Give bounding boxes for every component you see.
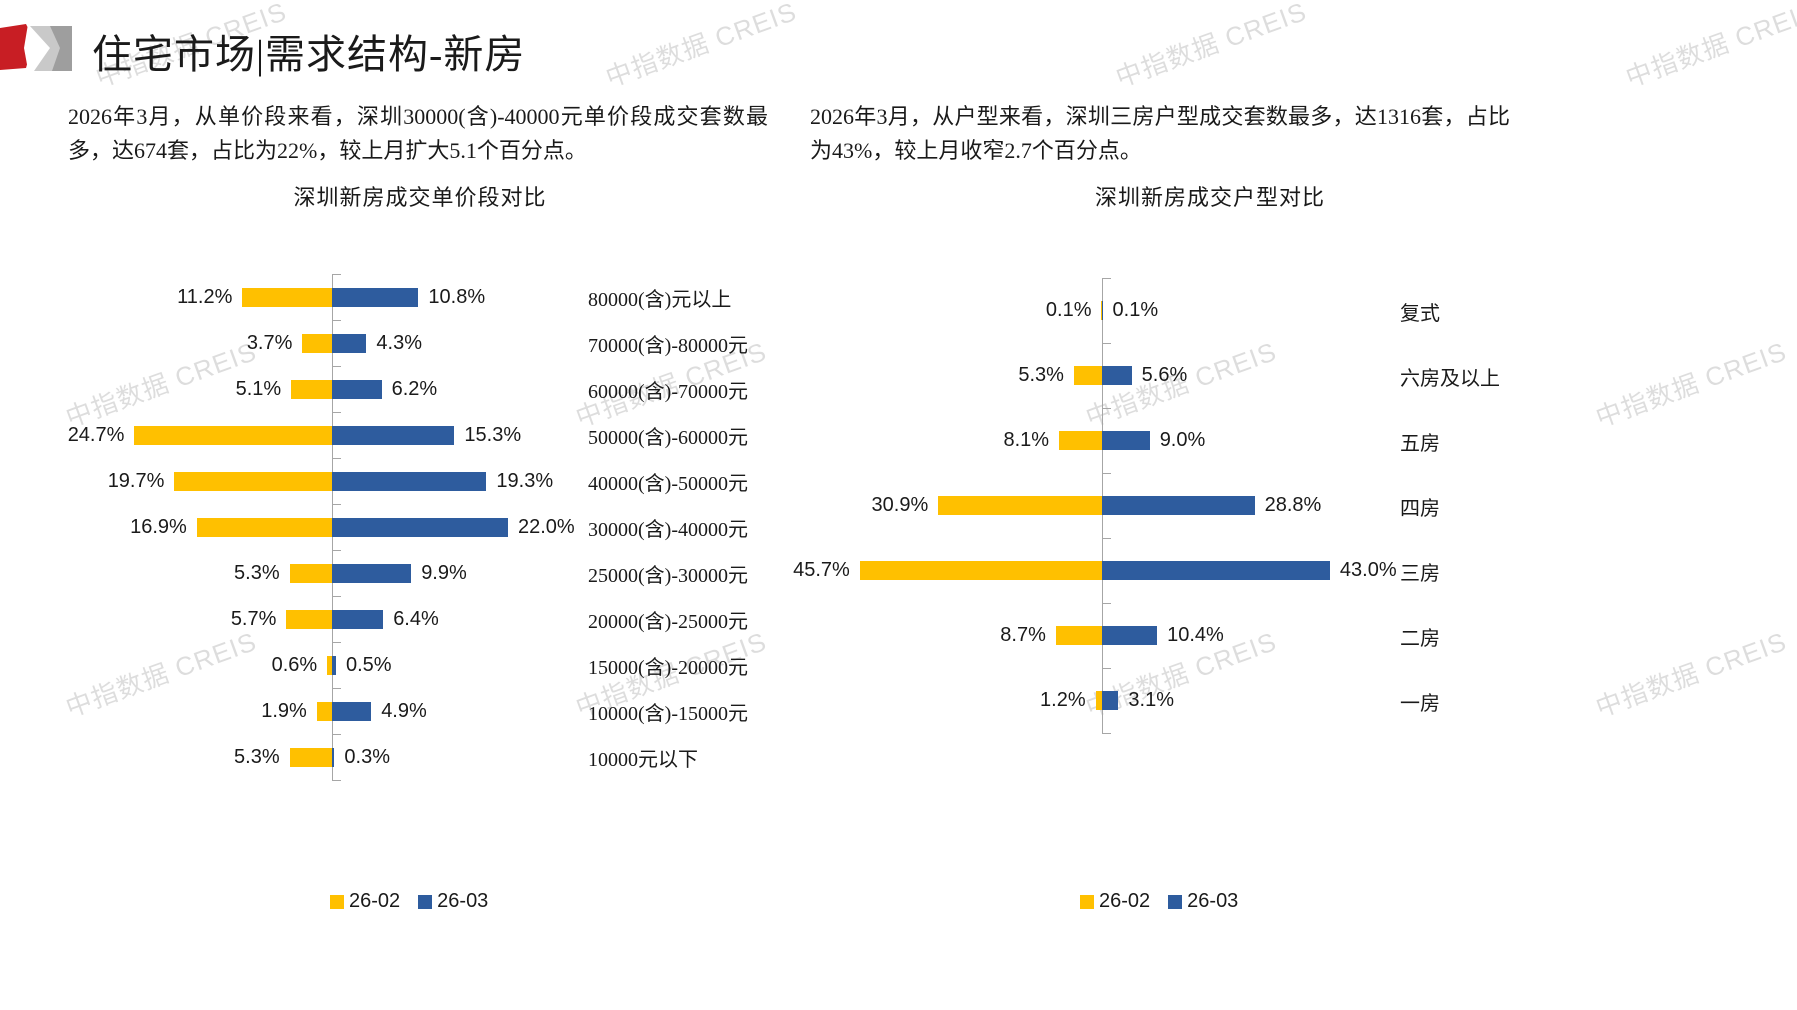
bar-value-label-prev: 8.7%: [1000, 624, 1046, 647]
bar-value-label-curr: 22.0%: [518, 516, 575, 539]
bar-prev[interactable]: [286, 610, 332, 629]
bar-curr[interactable]: [332, 472, 486, 491]
legend-label-prev: 26-02: [1099, 890, 1150, 913]
bar-value-label-prev: 45.7%: [793, 559, 850, 582]
category-label: 四房: [1400, 492, 1440, 521]
bar-value-label-prev: 0.1%: [1046, 299, 1092, 322]
chart-row: 1.2%3.1%: [830, 668, 1590, 733]
bar-group-curr: 10.4%: [1102, 603, 1224, 668]
category-label: 六房及以上: [1400, 362, 1500, 391]
category-label: 60000(含)-70000元: [588, 375, 748, 404]
category-label: 50000(含)-60000元: [588, 421, 748, 450]
bar-curr[interactable]: [332, 610, 383, 629]
legend-label-prev: 26-02: [349, 890, 400, 913]
bar-curr[interactable]: [332, 518, 508, 537]
bar-value-label-prev: 5.3%: [234, 562, 280, 585]
bar-group-prev: 11.2%: [177, 274, 332, 320]
bar-value-label-curr: 0.1%: [1113, 299, 1159, 322]
bar-curr[interactable]: [1102, 431, 1150, 450]
bar-group-curr: 28.8%: [1102, 473, 1321, 538]
bar-prev[interactable]: [1056, 626, 1102, 645]
bar-group-prev: 19.7%: [108, 458, 332, 504]
chart-row: 8.1%9.0%: [830, 408, 1590, 473]
bar-curr[interactable]: [332, 656, 336, 675]
bar-value-label-prev: 11.2%: [177, 286, 232, 309]
bar-value-label-prev: 1.9%: [261, 700, 307, 723]
axis-tick: [1102, 733, 1111, 734]
bar-value-label-curr: 0.5%: [346, 654, 392, 677]
bar-curr[interactable]: [1102, 691, 1118, 710]
bar-value-label-curr: 10.4%: [1167, 624, 1224, 647]
bar-value-label-prev: 5.3%: [234, 746, 280, 769]
legend-swatch-curr: [418, 895, 432, 909]
watermark-text: 中指数据 CREIS: [1590, 621, 1791, 724]
bar-value-label-curr: 3.1%: [1128, 689, 1174, 712]
category-label: 五房: [1400, 427, 1440, 456]
bar-prev[interactable]: [1059, 431, 1102, 450]
bar-prev[interactable]: [302, 334, 332, 353]
bar-curr[interactable]: [1102, 496, 1255, 515]
plot-area-unit-type: 0.1%0.1%复式5.3%5.6%六房及以上8.1%9.0%五房30.9%28…: [830, 278, 1590, 733]
plot-area-price-band: 11.2%10.8%80000(含)元以上3.7%4.3%70000(含)-80…: [40, 274, 800, 780]
bar-curr[interactable]: [332, 334, 366, 353]
bar-group-curr: 4.9%: [332, 688, 427, 734]
bar-value-label-curr: 4.3%: [376, 332, 422, 355]
bar-value-label-prev: 0.6%: [272, 654, 318, 677]
bar-curr[interactable]: [332, 288, 418, 307]
bar-curr[interactable]: [332, 564, 411, 583]
page-title: 住宅市场|需求结构-新房: [92, 22, 525, 80]
legend-swatch-prev: [330, 895, 344, 909]
bar-group-prev: 24.7%: [68, 412, 332, 458]
bar-value-label-curr: 10.8%: [428, 286, 485, 309]
chart-row: 30.9%28.8%: [830, 473, 1590, 538]
bar-curr[interactable]: [1102, 301, 1103, 320]
category-label: 70000(含)-80000元: [588, 329, 748, 358]
bar-group-prev: 5.1%: [236, 366, 332, 412]
bar-value-label-curr: 43.0%: [1340, 559, 1397, 582]
axis-tick: [332, 780, 341, 781]
chart-unit-type: 深圳新房成交户型对比 0.1%0.1%复式5.3%5.6%六房及以上8.1%9.…: [830, 180, 1590, 970]
category-label: 复式: [1400, 297, 1440, 326]
bar-group-curr: 19.3%: [332, 458, 553, 504]
bar-group-prev: 8.1%: [1003, 408, 1102, 473]
bar-prev[interactable]: [860, 561, 1102, 580]
chart-row: 45.7%43.0%: [830, 538, 1590, 603]
category-label: 20000(含)-25000元: [588, 605, 748, 634]
bar-group-curr: 6.4%: [332, 596, 439, 642]
bar-value-label-prev: 30.9%: [872, 494, 929, 517]
bar-group-curr: 15.3%: [332, 412, 521, 458]
legend-item-prev: 26-02: [1080, 890, 1150, 913]
bar-group-prev: 3.7%: [247, 320, 332, 366]
legend-item-curr: 26-03: [1168, 890, 1238, 913]
bar-group-curr: 10.8%: [332, 274, 485, 320]
bar-group-prev: 5.3%: [234, 550, 332, 596]
category-label: 25000(含)-30000元: [588, 559, 748, 588]
bar-group-curr: 6.2%: [332, 366, 437, 412]
category-label: 二房: [1400, 622, 1440, 651]
bar-group-prev: 0.6%: [272, 642, 332, 688]
bar-value-label-curr: 0.3%: [344, 746, 390, 769]
bar-value-label-prev: 16.9%: [130, 516, 187, 539]
bar-group-curr: 9.0%: [1102, 408, 1205, 473]
legend-label-curr: 26-03: [1187, 890, 1238, 913]
bar-value-label-curr: 6.4%: [393, 608, 439, 631]
brand-logo-icon: [0, 24, 72, 74]
bar-group-curr: 22.0%: [332, 504, 575, 550]
bar-prev[interactable]: [317, 702, 332, 721]
bar-curr[interactable]: [332, 380, 382, 399]
legend-unit-type: 26-02 26-03: [1080, 890, 1238, 913]
bar-value-label-curr: 9.0%: [1160, 429, 1206, 452]
bar-value-label-prev: 19.7%: [108, 470, 165, 493]
bar-group-prev: 0.1%: [1046, 278, 1102, 343]
chart-price-band: 深圳新房成交单价段对比 11.2%10.8%80000(含)元以上3.7%4.3…: [40, 180, 800, 970]
bar-curr[interactable]: [1102, 561, 1330, 580]
legend-swatch-prev: [1080, 895, 1094, 909]
category-label: 40000(含)-50000元: [588, 467, 748, 496]
category-label: 30000(含)-40000元: [588, 513, 748, 542]
bar-prev[interactable]: [290, 564, 332, 583]
summary-text-unit-type: 2026年3月，从户型来看，深圳三房户型成交套数最多，达1316套，占比为43%…: [810, 100, 1510, 168]
bar-prev[interactable]: [134, 426, 332, 445]
bar-group-prev: 1.2%: [1040, 668, 1102, 733]
bar-prev[interactable]: [197, 518, 332, 537]
watermark-text: 中指数据 CREIS: [1590, 331, 1791, 434]
bar-value-label-curr: 19.3%: [496, 470, 553, 493]
bar-group-prev: 8.7%: [1000, 603, 1102, 668]
bar-value-label-prev: 5.7%: [231, 608, 277, 631]
bar-value-label-prev: 3.7%: [247, 332, 293, 355]
bar-group-curr: 4.3%: [332, 320, 422, 366]
bar-value-label-curr: 5.6%: [1142, 364, 1188, 387]
category-label: 一房: [1400, 687, 1440, 716]
bar-value-label-curr: 4.9%: [381, 700, 427, 723]
bar-value-label-prev: 5.1%: [236, 378, 282, 401]
chart-title-price-band: 深圳新房成交单价段对比: [40, 180, 800, 212]
chart-row: 8.7%10.4%: [830, 603, 1590, 668]
bar-value-label-curr: 28.8%: [1265, 494, 1322, 517]
bar-prev[interactable]: [242, 288, 332, 307]
bar-group-curr: 0.3%: [332, 734, 390, 780]
bar-value-label-curr: 15.3%: [464, 424, 521, 447]
bar-group-curr: 43.0%: [1102, 538, 1397, 603]
bar-group-prev: 45.7%: [793, 538, 1102, 603]
bar-prev[interactable]: [290, 748, 332, 767]
bar-group-prev: 5.3%: [1018, 343, 1102, 408]
summary-text-price-band: 2026年3月，从单价段来看，深圳30000(含)-40000元单价段成交套数最…: [68, 100, 768, 168]
category-label: 80000(含)元以上: [588, 283, 731, 312]
legend-item-prev: 26-02: [330, 890, 400, 913]
category-label: 10000(含)-15000元: [588, 697, 748, 726]
bar-curr[interactable]: [332, 702, 371, 721]
legend-label-curr: 26-03: [437, 890, 488, 913]
bar-group-curr: 0.1%: [1102, 278, 1158, 343]
bar-value-label-curr: 9.9%: [421, 562, 467, 585]
bar-group-prev: 5.7%: [231, 596, 332, 642]
chart-title-unit-type: 深圳新房成交户型对比: [830, 180, 1590, 212]
bar-group-prev: 30.9%: [872, 473, 1102, 538]
bar-curr[interactable]: [332, 748, 334, 767]
bar-prev[interactable]: [1074, 366, 1102, 385]
bar-value-label-prev: 8.1%: [1003, 429, 1049, 452]
bar-curr[interactable]: [332, 426, 454, 445]
legend-price-band: 26-02 26-03: [330, 890, 488, 913]
bar-value-label-prev: 24.7%: [68, 424, 125, 447]
bar-group-curr: 0.5%: [332, 642, 392, 688]
bar-prev[interactable]: [938, 496, 1102, 515]
slide-header: 住宅市场|需求结构-新房: [0, 14, 1797, 74]
bar-curr[interactable]: [1102, 626, 1157, 645]
chart-row: 0.1%0.1%: [830, 278, 1590, 343]
bar-group-prev: 16.9%: [130, 504, 332, 550]
bar-group-curr: 5.6%: [1102, 343, 1187, 408]
bar-group-curr: 9.9%: [332, 550, 467, 596]
bar-value-label-prev: 5.3%: [1018, 364, 1064, 387]
legend-item-curr: 26-03: [418, 890, 488, 913]
slide-page: 中指数据 CREIS中指数据 CREIS中指数据 CREIS中指数据 CREIS…: [0, 0, 1797, 1010]
category-label: 三房: [1400, 557, 1440, 586]
category-label: 10000元以下: [588, 743, 698, 772]
bar-prev[interactable]: [174, 472, 332, 491]
bar-prev[interactable]: [291, 380, 332, 399]
bar-group-prev: 1.9%: [261, 688, 332, 734]
legend-swatch-curr: [1168, 895, 1182, 909]
category-label: 15000(含)-20000元: [588, 651, 748, 680]
bar-value-label-prev: 1.2%: [1040, 689, 1086, 712]
bar-value-label-curr: 6.2%: [392, 378, 438, 401]
bar-group-prev: 5.3%: [234, 734, 332, 780]
bar-curr[interactable]: [1102, 366, 1132, 385]
bar-group-curr: 3.1%: [1102, 668, 1174, 733]
